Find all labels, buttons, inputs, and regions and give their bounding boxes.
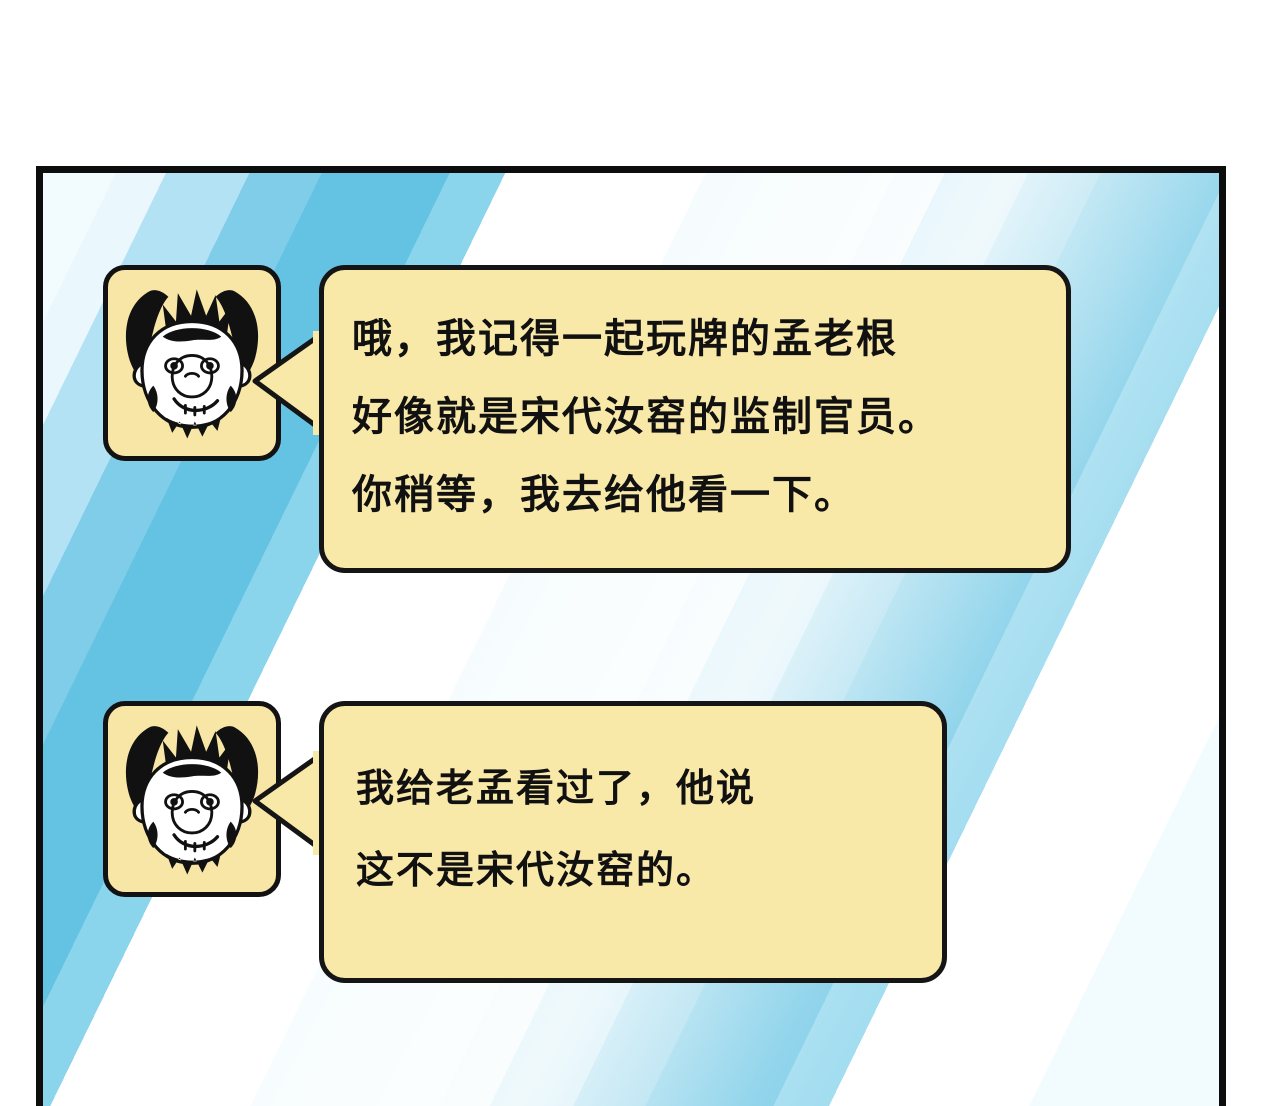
speech-bubble-tail [251,751,323,855]
speech-bubble-container: 哦，我记得一起玩牌的孟老根 好像就是宋代汝窑的监制官员。 你稍等，我去给他看一下… [319,265,1071,573]
panel-background: 哦，我记得一起玩牌的孟老根 好像就是宋代汝窑的监制官员。 你稍等，我去给他看一下… [43,173,1219,1106]
comic-page: 哦，我记得一起玩牌的孟老根 好像就是宋代汝窑的监制官员。 你稍等，我去给他看一下… [0,0,1280,1080]
bubble-line: 这不是宋代汝窑的。 [356,830,916,912]
dialogue-row: 哦，我记得一起玩牌的孟老根 好像就是宋代汝窑的监制官员。 你稍等，我去给他看一下… [103,265,1071,573]
speech-bubble[interactable]: 哦，我记得一起玩牌的孟老根 好像就是宋代汝窑的监制官员。 你稍等，我去给他看一下… [319,265,1071,573]
bubble-line: 哦，我记得一起玩牌的孟老根 [352,300,1040,378]
bubble-line: 我给老孟看过了，他说 [356,748,916,830]
speech-bubble-container: 我给老孟看过了，他说 这不是宋代汝窑的。 [319,701,947,983]
comic-panel: 哦，我记得一起玩牌的孟老根 好像就是宋代汝窑的监制官员。 你稍等，我去给他看一下… [36,166,1226,1106]
bubble-line: 你稍等，我去给他看一下。 [352,456,1040,534]
bubble-line: 好像就是宋代汝窑的监制官员。 [352,378,1040,456]
dialogue-row: 我给老孟看过了，他说 这不是宋代汝窑的。 [103,701,947,983]
speech-bubble-tail [251,331,323,435]
speech-bubble[interactable]: 我给老孟看过了，他说 这不是宋代汝窑的。 [319,701,947,983]
